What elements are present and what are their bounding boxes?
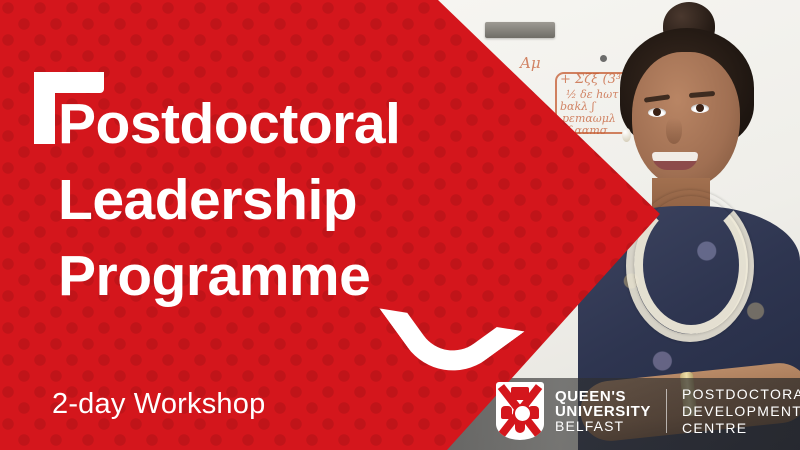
logo-lockup: QUEEN'S UNIVERSITY BELFAST POSTDOCTORAL … <box>496 380 800 442</box>
logo-divider <box>666 389 667 433</box>
teeth <box>652 152 698 161</box>
wordmark-line-2: UNIVERSITY <box>555 404 651 419</box>
page-title: Postdoctoral Leadership Programme <box>58 86 458 314</box>
pdc-line-2: DEVELOPMENT <box>682 403 800 420</box>
pdc-line-1: POSTDOCTORAL <box>682 386 800 403</box>
earring <box>622 128 631 142</box>
headline-line-1: Postdoctoral <box>58 86 458 162</box>
queens-university-wordmark: QUEEN'S UNIVERSITY BELFAST <box>555 389 651 434</box>
swoosh-icon <box>400 268 472 340</box>
pupil-right <box>696 104 704 112</box>
mouth <box>652 152 698 170</box>
promotional-banner: Aμ + Σζξ (3³ⁿ) ½ δε hωτ bαkλ ʃ pεтαωμλ ʃ… <box>0 0 800 450</box>
pdc-wordmark: POSTDOCTORAL DEVELOPMENT CENTRE <box>682 386 800 437</box>
nose <box>666 118 682 144</box>
whiteboard-pen-tray <box>485 22 555 38</box>
wordmark-line-3: BELFAST <box>555 419 651 434</box>
bracket-vertical-bar <box>34 72 55 144</box>
subtitle: 2-day Workshop <box>52 388 265 421</box>
pupil-left <box>653 108 661 116</box>
crest-center-roundel <box>513 404 532 423</box>
headline-line-2: Leadership <box>58 162 458 238</box>
pdc-line-3: CENTRE <box>682 420 800 437</box>
wordmark-line-1: QUEEN'S <box>555 389 651 404</box>
queens-crest-icon <box>496 382 544 440</box>
